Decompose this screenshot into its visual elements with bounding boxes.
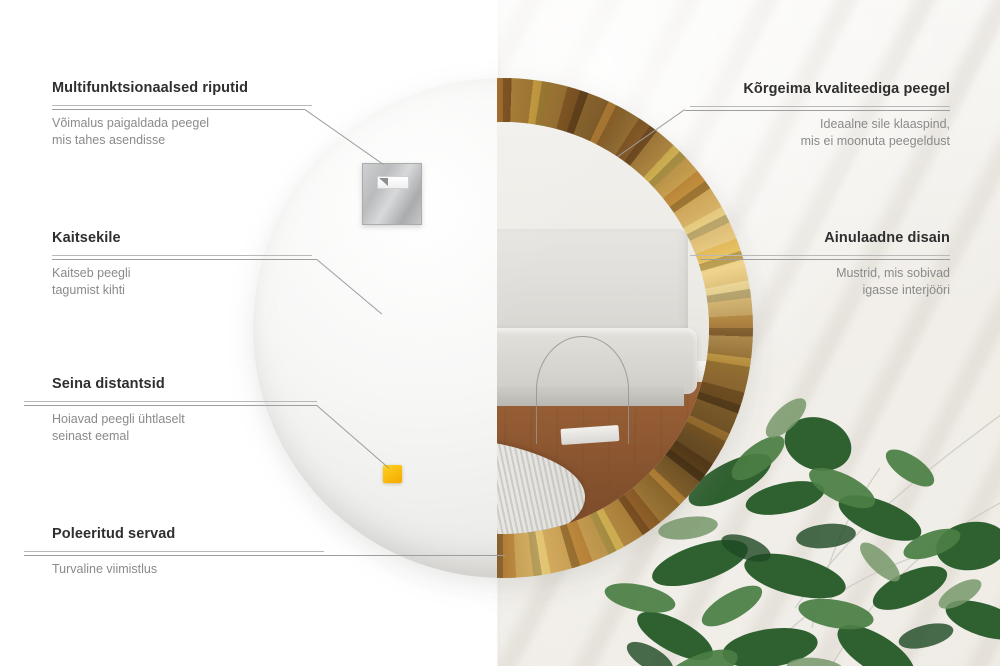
callout-unique-design-title: Ainulaadne disain xyxy=(690,230,950,246)
wall-spacer-block xyxy=(383,465,402,483)
callout-polished-edges-rule xyxy=(24,551,324,552)
callout-top-quality: Kõrgeima kvaliteediga peegel Ideaalne si… xyxy=(690,81,950,150)
callout-wall-spacers-title: Seina distantsid xyxy=(52,376,332,392)
callout-unique-design-desc: Mustrid, mis sobivad igasse interjööri xyxy=(690,265,950,299)
callout-top-quality-rule xyxy=(690,106,950,107)
callout-polished-edges-title: Poleeritud servad xyxy=(52,526,352,542)
callout-wall-spacers-rule xyxy=(24,401,317,402)
callout-hangers-rule xyxy=(52,105,312,106)
callout-protective-film: Kaitsekile Kaitseb peegli tagumist kihti xyxy=(52,230,312,299)
callout-hangers: Multifunktsionaalsed riputid Võimalus pa… xyxy=(52,80,312,149)
callout-top-quality-desc: Ideaalne sile klaaspind, mis ei moonuta … xyxy=(690,116,950,150)
callout-hangers-desc: Võimalus paigaldada peegel mis tahes ase… xyxy=(52,115,312,149)
callout-protective-film-title: Kaitsekile xyxy=(52,230,312,246)
bracket-keyhole-slot xyxy=(377,176,409,189)
callout-wall-spacers: Seina distantsid Hoiavad peegli ühtlasel… xyxy=(52,376,332,445)
callout-protective-film-desc: Kaitseb peegli tagumist kihti xyxy=(52,265,312,299)
callout-unique-design-rule xyxy=(690,255,950,256)
product-infographic: Multifunktsionaalsed riputid Võimalus pa… xyxy=(0,0,1000,666)
mounting-bracket-plate xyxy=(362,163,422,225)
callout-polished-edges: Poleeritud servad Turvaline viimistlus xyxy=(52,526,352,578)
callout-protective-film-rule xyxy=(52,255,312,256)
callout-polished-edges-desc: Turvaline viimistlus xyxy=(52,561,352,578)
callout-unique-design: Ainulaadne disain Mustrid, mis sobivad i… xyxy=(690,230,950,299)
round-mirror xyxy=(253,78,753,578)
callout-top-quality-title: Kõrgeima kvaliteediga peegel xyxy=(690,81,950,97)
callout-wall-spacers-desc: Hoiavad peegli ühtlaselt seinast eemal xyxy=(52,411,332,445)
callout-hangers-title: Multifunktsionaalsed riputid xyxy=(52,80,312,96)
